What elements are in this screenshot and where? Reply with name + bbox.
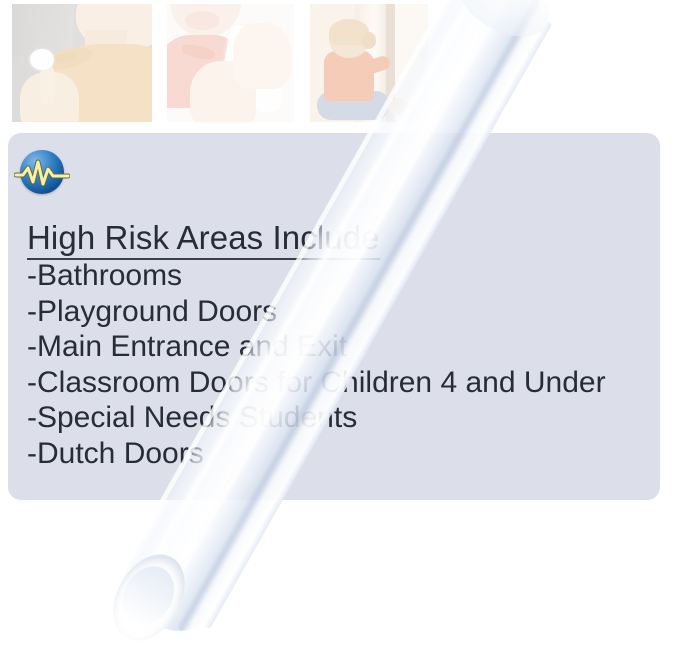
- photo-strip: [0, 0, 679, 125]
- page-title: High Risk Areas Include: [27, 219, 380, 257]
- waveform-logo: [20, 150, 64, 194]
- hands-holding-guard-photo: [167, 4, 294, 122]
- list-item: -Bathrooms: [27, 258, 606, 294]
- list-item: -Classroom Doors for Children 4 and Unde…: [27, 365, 606, 401]
- list-item: -Special Needs Students: [27, 400, 606, 436]
- list-item: -Main Entrance and Exit: [27, 329, 606, 365]
- list-item: -Playground Doors: [27, 294, 606, 330]
- child-shoulder-guard-photo: [12, 4, 152, 122]
- toddler-at-door-photo: [310, 4, 428, 122]
- high-risk-areas-list: -Bathrooms -Playground Doors -Main Entra…: [27, 258, 606, 471]
- list-item: -Dutch Doors: [27, 436, 606, 472]
- risk-heading-text: High Risk Areas Include: [27, 219, 380, 256]
